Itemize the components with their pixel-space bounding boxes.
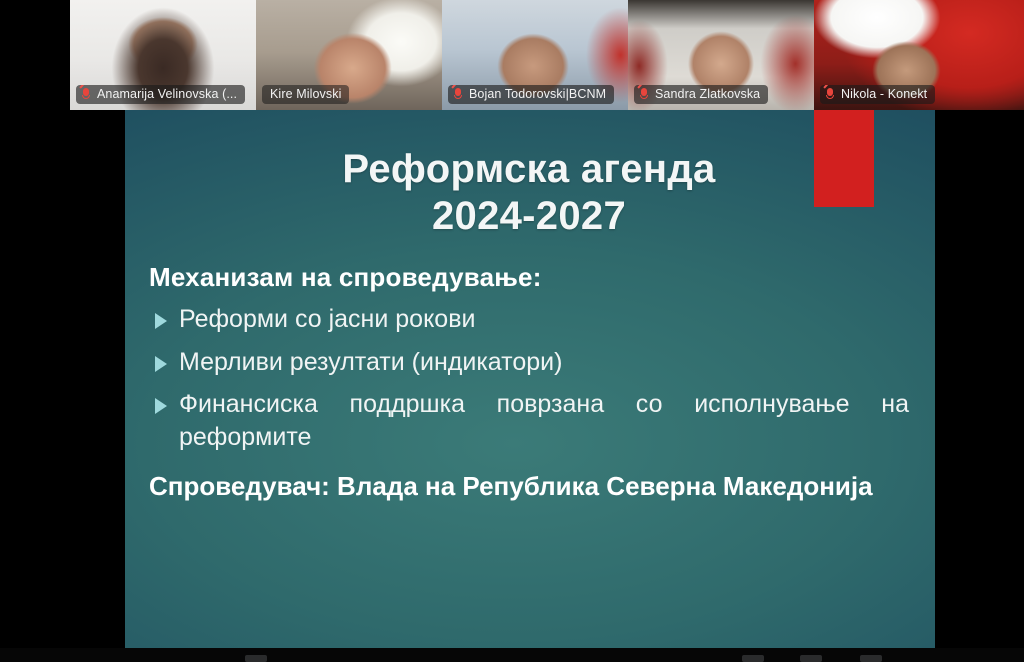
participant-tile-bojan[interactable]: Bojan Todorovski|BCNM [442,0,628,110]
zoom-meeting-window: Anamarija Velinovska (... Kire Milovski … [0,0,1024,662]
participant-tile-nikola[interactable]: Nikola - Konekt [814,0,1024,110]
mic-muted-icon [825,88,836,101]
slide-bullet-item: Финансиска поддршка поврзана со исполнув… [155,388,909,455]
triangle-bullet-icon [155,313,167,329]
slide-bullet-item: Реформи со јасни рокови [155,303,909,336]
participant-name: Kire Milovski [270,88,341,101]
participant-name: Anamarija Velinovska (... [97,88,237,101]
participant-name-badge: Nikola - Konekt [820,85,935,104]
participant-tile-anamarija[interactable]: Anamarija Velinovska (... [70,0,256,110]
mic-muted-icon [639,88,650,101]
slide-bullet-text: Финансиска поддршка поврзана со исполнув… [179,388,909,455]
slide-content: Реформска агенда 2024-2027 Механизам на … [125,110,935,648]
filmstrip-left-padding [0,0,70,110]
slide-bullet-text: Мерливи резултати (индикатори) [179,346,909,379]
mic-muted-icon [81,88,92,101]
participant-name-badge: Sandra Zlatkovska [634,85,768,104]
slide-title-line-2: 2024-2027 [149,193,909,240]
triangle-bullet-icon [155,398,167,414]
toolbar-control-hint[interactable] [742,655,764,662]
meeting-toolbar-sliver [0,648,1024,662]
slide-closing-statement: Спроведувач: Влада на Република Северна … [149,470,909,504]
toolbar-control-hint[interactable] [860,655,882,662]
triangle-bullet-icon [155,356,167,372]
slide-title-line-1: Реформска агенда [342,147,715,191]
presentation-slide: Реформска агенда 2024-2027 Механизам на … [125,110,935,648]
participant-name-badge: Kire Milovski [262,85,349,104]
participant-name-badge: Bojan Todorovski|BCNM [448,85,614,104]
slide-bullet-list: Реформи со јасни рокови Мерливи резултат… [149,303,909,454]
toolbar-control-hint[interactable] [800,655,822,662]
slide-bullet-text: Реформи со јасни рокови [179,303,909,336]
participant-name: Nikola - Konekt [841,88,927,101]
mic-muted-icon [453,88,464,101]
slide-title: Реформска агенда 2024-2027 [149,146,909,240]
slide-bullet-item: Мерливи резултати (индикатори) [155,346,909,379]
shared-screen-area: Реформска агенда 2024-2027 Механизам на … [0,110,1024,662]
participant-name: Sandra Zlatkovska [655,88,760,101]
participant-tile-kire[interactable]: Kire Milovski [256,0,442,110]
participant-filmstrip: Anamarija Velinovska (... Kire Milovski … [0,0,1024,110]
participant-tile-sandra[interactable]: Sandra Zlatkovska [628,0,814,110]
participant-name: Bojan Todorovski|BCNM [469,88,606,101]
toolbar-control-hint[interactable] [245,655,267,662]
participant-name-badge: Anamarija Velinovska (... [76,85,245,104]
slide-lead-heading: Механизам на спроведување: [149,262,909,293]
